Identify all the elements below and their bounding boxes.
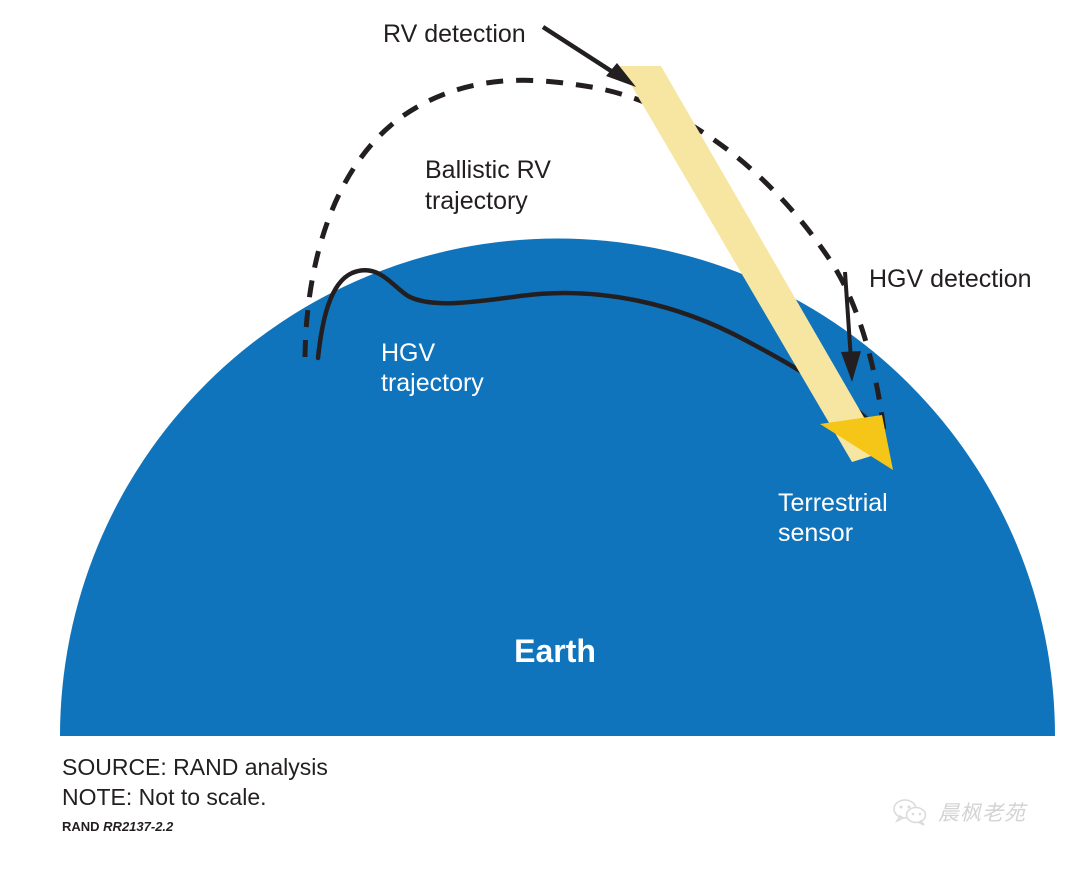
watermark-text: 晨枫老苑 xyxy=(938,797,1026,827)
hgv-trajectory-label-line1: HGV xyxy=(381,339,436,367)
watermark: 晨枫老苑 xyxy=(893,797,1026,827)
ballistic-trajectory-label-line1: Ballistic RV xyxy=(425,156,551,184)
trajectory-diagram: RV detection Ballistic RV trajectory HGV… xyxy=(0,0,1080,872)
figure-container: RV detection Ballistic RV trajectory HGV… xyxy=(0,0,1080,872)
caption-block: SOURCE: RAND analysis NOTE: Not to scale… xyxy=(62,752,762,834)
hgv-detection-label: HGV detection xyxy=(869,265,1032,293)
rv-detection-arrow-icon xyxy=(543,27,636,87)
terrestrial-sensor-label-line1: Terrestrial xyxy=(778,489,888,517)
figure-credit: RAND RR2137-2.2 xyxy=(62,819,762,834)
rv-detection-label: RV detection xyxy=(383,20,526,48)
earth-label: Earth xyxy=(514,633,596,669)
credit-brand: RAND xyxy=(62,819,103,834)
caption-source: SOURCE: RAND analysis xyxy=(62,752,762,782)
hgv-trajectory-label-line2: trajectory xyxy=(381,369,484,397)
wechat-icon xyxy=(893,798,929,826)
caption-note: NOTE: Not to scale. xyxy=(62,782,762,812)
ballistic-trajectory-label-line2: trajectory xyxy=(425,187,528,215)
terrestrial-sensor-label-line2: sensor xyxy=(778,519,853,547)
credit-number: RR2137-2.2 xyxy=(103,819,173,834)
